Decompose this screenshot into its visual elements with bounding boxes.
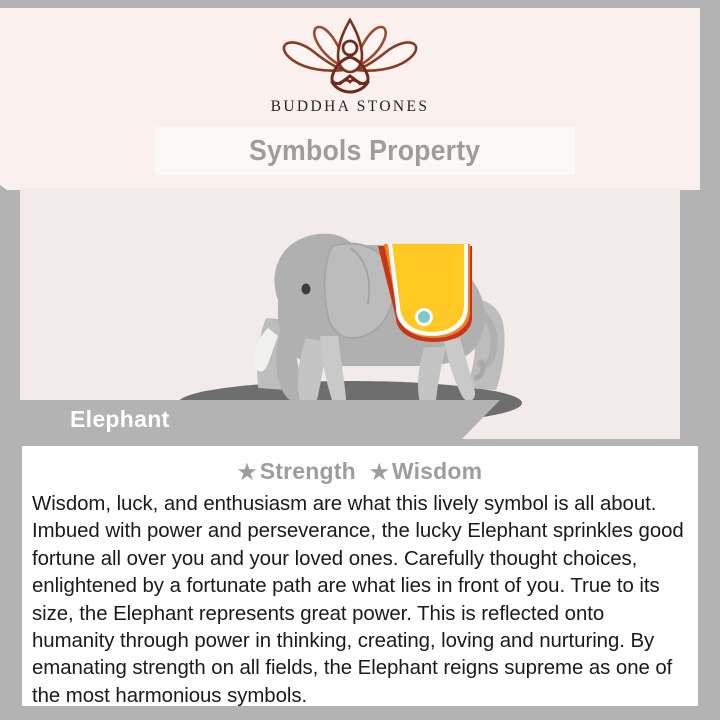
frame-band-top xyxy=(0,0,720,8)
symbol-text-panel: ★Strength★Wisdom Wisdom, luck, and enthu… xyxy=(22,446,698,706)
elephant-eye xyxy=(302,284,311,295)
frame-band-left-lower xyxy=(0,439,22,720)
symbol-description: Wisdom, luck, and enthusiasm are what th… xyxy=(32,491,688,710)
star-icon: ★ xyxy=(238,461,257,484)
symbol-name: Elephant xyxy=(70,406,170,433)
saddle-gem xyxy=(417,310,432,325)
star-icon: ★ xyxy=(370,461,389,484)
attribute-wisdom: ★Wisdom xyxy=(370,458,482,485)
attribute-strength: ★Strength xyxy=(238,458,356,485)
brand-logo: BUDDHA STONES xyxy=(0,14,700,116)
page-title-band: Symbols Property xyxy=(155,127,575,175)
attribute-strength-label: Strength xyxy=(260,458,356,484)
lotus-meditation-figure-icon xyxy=(270,14,430,96)
symbol-attributes: ★Strength★Wisdom xyxy=(22,446,698,485)
brand-name: BUDDHA STONES xyxy=(0,98,700,116)
symbol-property-card: BUDDHA STONES Symbols Property xyxy=(0,0,720,720)
frame-band-right xyxy=(700,0,720,720)
symbol-name-banner: Elephant xyxy=(0,400,500,439)
attribute-wisdom-label: Wisdom xyxy=(392,458,482,484)
page-title: Symbols Property xyxy=(249,135,480,168)
